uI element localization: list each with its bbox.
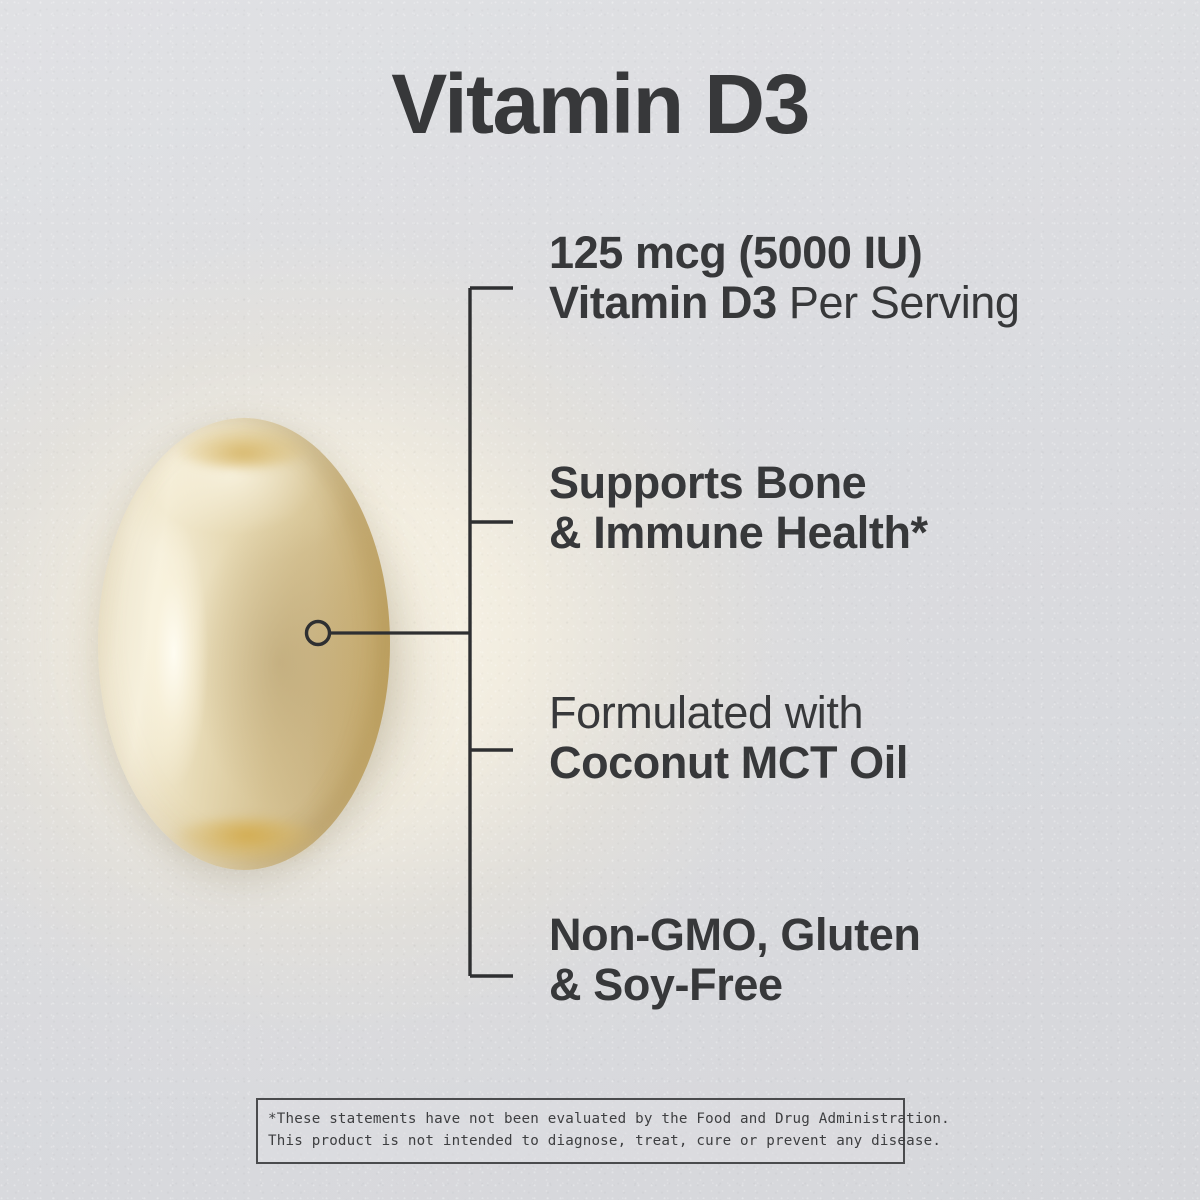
callout-formulation-line-2: Coconut MCT Oil	[549, 738, 908, 788]
capsule-body	[98, 418, 390, 870]
callout-benefits-text-2: & Immune Health*	[549, 507, 928, 558]
fda-disclaimer-line-2: This product is not intended to diagnose…	[268, 1131, 893, 1153]
callout-certifications-line-2: & Soy-Free	[549, 960, 920, 1010]
callout-dosage-line-1: 125 mcg (5000 IU)	[549, 228, 1020, 278]
callout-dosage-amount: 125 mcg (5000 IU)	[549, 227, 922, 278]
callout-certifications-line-1: Non-GMO, Gluten	[549, 910, 920, 960]
page-title: Vitamin D3	[0, 62, 1200, 146]
callout-certifications-text-2: & Soy-Free	[549, 959, 783, 1010]
callout-benefits: Supports Bone & Immune Health*	[549, 458, 928, 559]
capsule-seam-bottom	[162, 818, 332, 872]
capsule-seam-top	[168, 418, 318, 468]
callout-benefits-line-1: Supports Bone	[549, 458, 928, 508]
callout-certifications-text-1: Non-GMO, Gluten	[549, 909, 920, 960]
callout-dosage-per-serving: Per Serving	[777, 277, 1020, 328]
callout-dosage: 125 mcg (5000 IU) Vitamin D3 Per Serving	[549, 228, 1020, 329]
callout-certifications: Non-GMO, Gluten & Soy-Free	[549, 910, 920, 1011]
callout-formulation-ingredient: Coconut MCT Oil	[549, 737, 908, 788]
callout-formulation-line-1: Formulated with	[549, 688, 908, 738]
fda-disclaimer-line-1: *These statements have not been evaluate…	[268, 1109, 893, 1131]
callout-formulation-prefix: Formulated with	[549, 687, 863, 738]
fda-disclaimer-box: *These statements have not been evaluate…	[256, 1098, 905, 1164]
callout-dosage-line-2: Vitamin D3 Per Serving	[549, 278, 1020, 328]
callout-benefits-line-2: & Immune Health*	[549, 508, 928, 558]
callout-dosage-nutrient: Vitamin D3	[549, 277, 777, 328]
product-infographic: Vitamin D3 125 mcg (5000 IU) Vitamin D3 …	[0, 0, 1200, 1200]
callout-benefits-text-1: Supports Bone	[549, 457, 866, 508]
callout-formulation: Formulated with Coconut MCT Oil	[549, 688, 908, 789]
softgel-capsule-image	[52, 380, 482, 900]
